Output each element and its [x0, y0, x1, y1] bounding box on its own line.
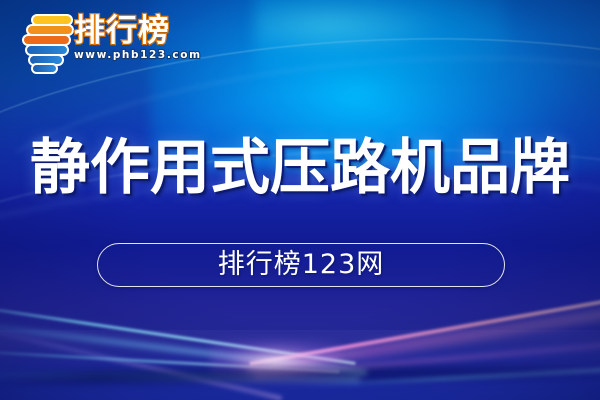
site-attribution-label: 排行榜123网 — [218, 250, 385, 280]
banner-title: 静作用式压路机品牌 — [0, 133, 600, 203]
logo-brand-name: 排行榜 — [74, 14, 194, 48]
promo-banner: 排行榜 www.phb123.com 静作用式压路机品牌 排行榜123网 — [0, 0, 600, 400]
site-attribution-pill: 排行榜123网 — [97, 243, 505, 287]
logo-text-group: 排行榜 www.phb123.com — [74, 14, 194, 61]
logo-website-url: www.phb123.com — [74, 49, 194, 61]
site-logo[interactable]: 排行榜 www.phb123.com — [14, 10, 194, 76]
logo-bar-6 — [31, 63, 58, 74]
logo-stacked-bars-icon — [18, 12, 80, 74]
